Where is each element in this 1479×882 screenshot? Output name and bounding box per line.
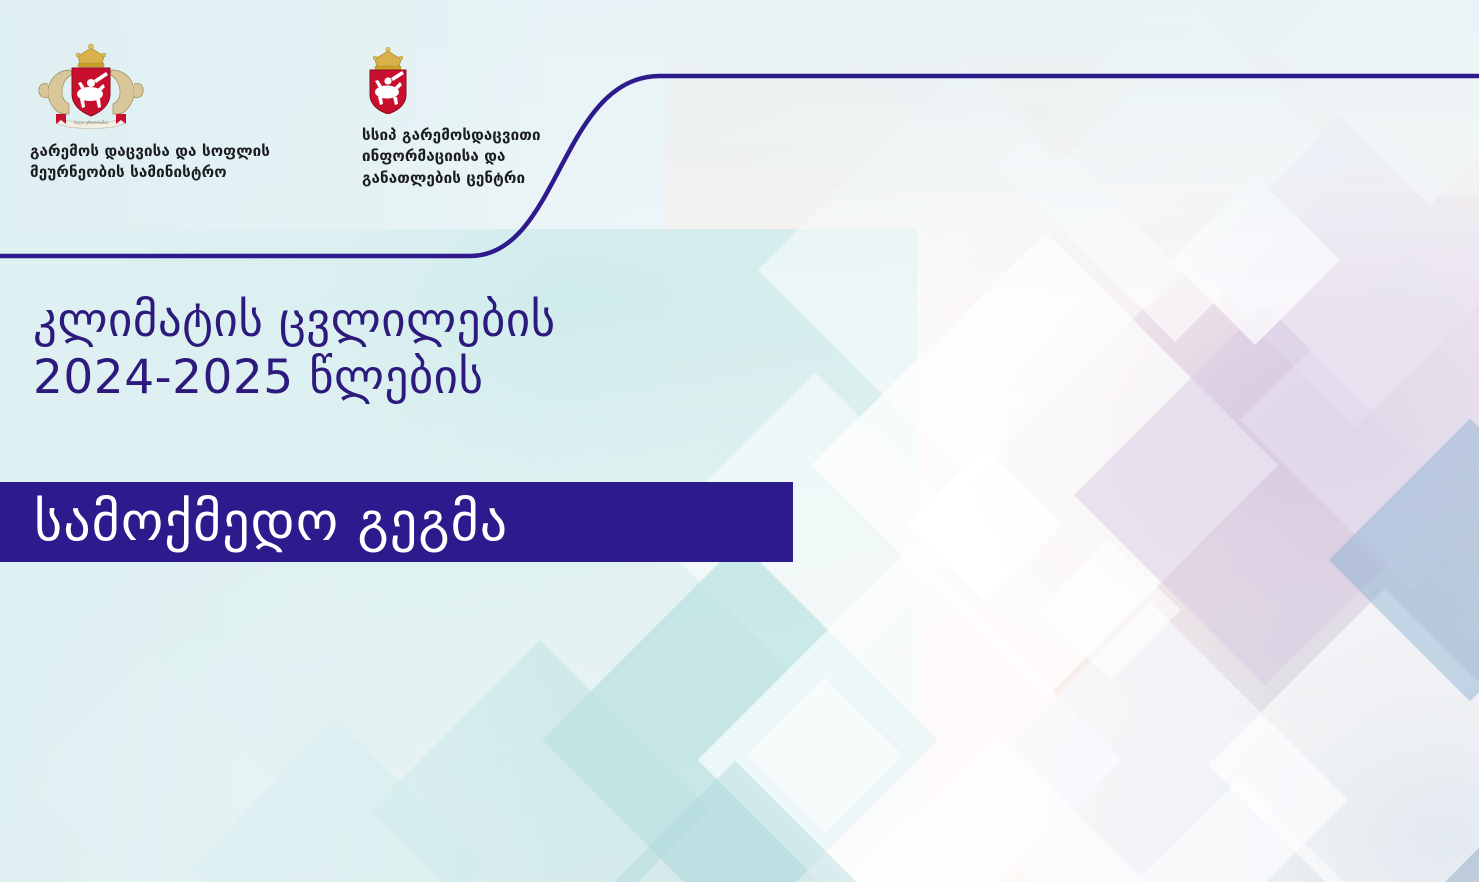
- center-logo-block: სსიპ გარემოსდაცვითი ინფორმაციისა და განა…: [362, 46, 612, 189]
- title-line-2: 2024-2025 წლების: [33, 349, 873, 406]
- cover-page: ძალა ერთობაშია გარემოს დაცვისა და სოფლის…: [0, 0, 1479, 882]
- svg-text:ძალა ერთობაშია: ძალა ერთობაშია: [73, 120, 108, 125]
- georgia-shield-crown-emblem-icon: [362, 46, 414, 114]
- banner-text: სამოქმედო გეგმა: [0, 495, 508, 549]
- georgia-coat-of-arms-icon: ძალა ერთობაშია: [32, 42, 150, 132]
- center-name: სსიპ გარემოსდაცვითი ინფორმაციისა და განა…: [362, 125, 612, 189]
- title-line-1: კლიმატის ცვლილების: [33, 292, 873, 349]
- title-block: კლიმატის ცვლილების 2024-2025 წლების: [33, 292, 873, 407]
- title-banner: სამოქმედო გეგმა: [0, 482, 793, 562]
- ministry-logo-block: ძალა ერთობაშია გარემოს დაცვისა და სოფლის…: [30, 42, 330, 184]
- ministry-name: გარემოს დაცვისა და სოფლის მეურნეობის სამ…: [30, 141, 330, 184]
